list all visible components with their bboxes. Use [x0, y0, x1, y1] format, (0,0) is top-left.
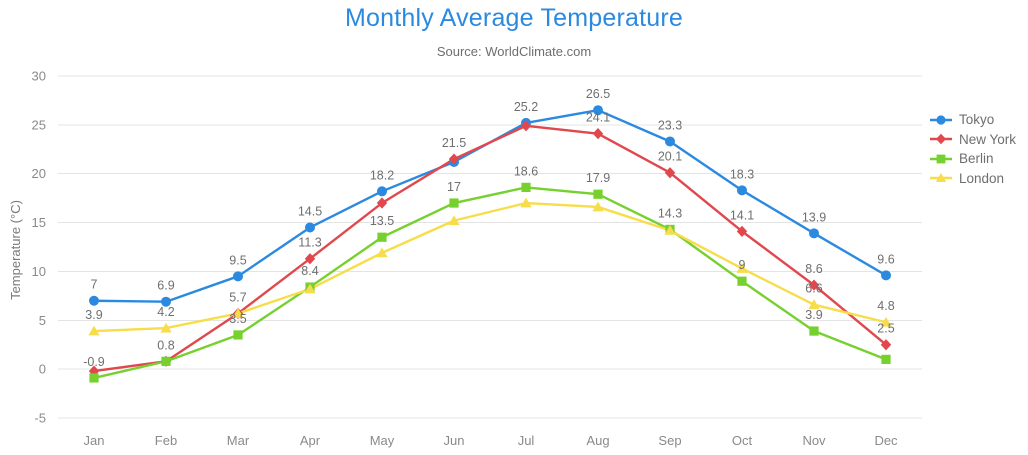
data-point-label: 4.8: [877, 299, 894, 313]
data-point-marker[interactable]: [161, 357, 170, 366]
data-point-marker[interactable]: [593, 190, 602, 199]
data-point-label: 9: [739, 258, 746, 272]
data-point-label: 21.5: [442, 136, 466, 150]
x-axis-tick-label: Jan: [84, 433, 105, 448]
x-axis-tick-label: Oct: [732, 433, 753, 448]
data-point-label: 18.3: [730, 167, 754, 181]
legend: TokyoNew YorkBerlinLondon: [930, 110, 1028, 188]
legend-marker-icon: [930, 132, 952, 146]
y-axis-tick-label: 10: [32, 264, 46, 279]
legend-item-new-york[interactable]: New York: [930, 130, 1028, 150]
data-point-marker[interactable]: [89, 373, 98, 382]
data-point-label: 7: [91, 278, 98, 292]
plot-area: -5051015202530 JanFebMarAprMayJunJulAugS…: [0, 0, 1028, 455]
data-point-label: 14.5: [298, 204, 322, 218]
data-point-label: 20.1: [658, 150, 682, 164]
series-line-new-york: [94, 126, 886, 371]
data-point-label: 3.9: [805, 308, 822, 322]
data-point-label: 26.5: [586, 87, 610, 101]
y-axis-tick-label: 15: [32, 215, 46, 230]
y-axis-tick-labels: -5051015202530: [32, 69, 46, 426]
data-point-marker[interactable]: [809, 228, 819, 238]
legend-item-label: Tokyo: [959, 112, 994, 127]
data-point-label: 11.3: [298, 236, 321, 250]
data-point-marker[interactable]: [809, 326, 818, 335]
data-point-label: 2.5: [877, 322, 894, 336]
legend-item-tokyo[interactable]: Tokyo: [930, 110, 1028, 130]
legend-item-london[interactable]: London: [930, 169, 1028, 189]
y-axis-title: Temperature (°C): [8, 200, 23, 300]
data-point-label: 9.6: [877, 252, 894, 266]
series-point-labels: 76.99.514.518.225.226.523.318.313.99.65.…: [83, 87, 895, 369]
x-axis-tick-label: Dec: [874, 433, 898, 448]
data-point-label: 24.1: [586, 111, 610, 125]
data-point-label: 17.9: [586, 171, 610, 185]
data-point-label: 18.6: [514, 164, 538, 178]
x-axis-tick-label: Jul: [518, 433, 535, 448]
data-point-label: 18.2: [370, 168, 394, 182]
x-axis-tick-label: Sep: [658, 433, 681, 448]
data-point-label: 3.5: [229, 312, 246, 326]
data-point-marker[interactable]: [521, 183, 530, 192]
data-point-marker[interactable]: [233, 271, 243, 281]
x-axis-tick-label: Jun: [444, 433, 465, 448]
legend-item-label: Berlin: [959, 151, 994, 166]
x-axis-tick-labels: JanFebMarAprMayJunJulAugSepOctNovDec: [84, 433, 899, 448]
x-axis-tick-label: Feb: [155, 433, 177, 448]
data-point-marker[interactable]: [89, 296, 99, 306]
data-point-label: 14.3: [658, 206, 682, 220]
data-point-label: 3.9: [85, 308, 102, 322]
data-point-label: 5.7: [229, 290, 246, 304]
line-chart: Monthly Average Temperature Source: Worl…: [0, 0, 1028, 455]
data-point-label: 13.5: [370, 214, 394, 228]
data-point-marker[interactable]: [737, 185, 747, 195]
data-point-label: 6.6: [805, 282, 822, 296]
x-axis-tick-label: Nov: [802, 433, 826, 448]
legend-item-label: London: [959, 171, 1004, 186]
data-point-marker[interactable]: [233, 330, 242, 339]
data-point-label: 9.5: [229, 253, 246, 267]
data-point-marker[interactable]: [449, 198, 458, 207]
legend-marker-icon: [930, 152, 952, 166]
data-point-marker[interactable]: [377, 233, 386, 242]
data-point-label: 4.2: [157, 305, 174, 319]
y-axis-tick-label: 0: [39, 362, 46, 377]
data-point-label: 8.6: [805, 262, 822, 276]
data-point-label: 8.4: [301, 264, 318, 278]
data-point-marker[interactable]: [305, 222, 315, 232]
data-point-label: -0.9: [83, 355, 105, 369]
x-axis-tick-label: May: [370, 433, 395, 448]
legend-item-label: New York: [959, 132, 1016, 147]
data-point-label: 14.1: [730, 208, 754, 222]
y-axis-tick-label: -5: [34, 411, 46, 426]
x-axis-tick-label: Mar: [227, 433, 250, 448]
data-point-label: 6.9: [157, 279, 174, 293]
data-point-marker[interactable]: [665, 136, 675, 146]
data-point-label: 0.8: [157, 338, 174, 352]
legend-marker-icon: [930, 171, 952, 185]
legend-marker-icon: [930, 113, 952, 127]
y-axis-tick-label: 20: [32, 166, 46, 181]
data-point-label: 17: [447, 180, 461, 194]
gridlines: [58, 76, 922, 418]
data-point-marker[interactable]: [881, 270, 891, 280]
data-point-marker[interactable]: [881, 355, 890, 364]
series-line-berlin: [94, 187, 886, 378]
y-axis-tick-label: 30: [32, 69, 46, 84]
data-point-label: 25.2: [514, 100, 538, 114]
data-point-marker[interactable]: [737, 277, 746, 286]
data-point-marker[interactable]: [377, 186, 387, 196]
series-lines: [94, 110, 886, 378]
series-markers: [88, 105, 891, 382]
y-axis-tick-label: 25: [32, 117, 46, 132]
data-point-label: 23.3: [658, 118, 682, 132]
data-point-marker[interactable]: [593, 128, 603, 139]
x-axis-tick-label: Aug: [586, 433, 609, 448]
legend-item-berlin[interactable]: Berlin: [930, 149, 1028, 169]
series-line-tokyo: [94, 110, 886, 302]
x-axis-tick-label: Apr: [300, 433, 321, 448]
data-point-label: 13.9: [802, 210, 826, 224]
y-axis-tick-label: 5: [39, 313, 46, 328]
